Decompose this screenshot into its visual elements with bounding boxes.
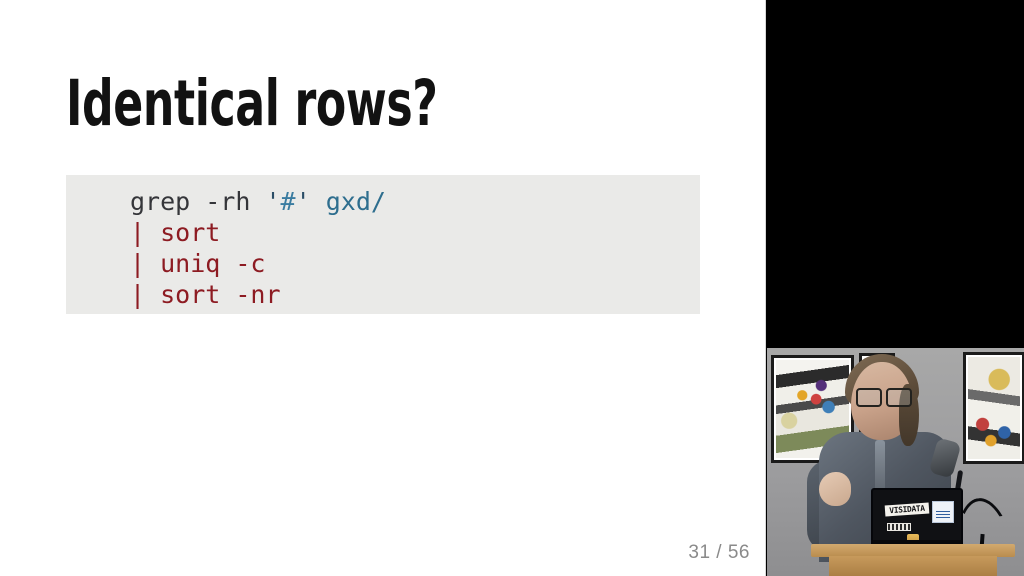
presentation-screenshot: Identical rows? grep -rh '#' gxd/ | sort… xyxy=(0,0,1024,576)
page-number: 31 / 56 xyxy=(688,542,750,564)
slide-canvas: Identical rows? grep -rh '#' gxd/ | sort… xyxy=(0,0,766,576)
speaker-video-panel: VISIDATA xyxy=(765,0,1024,576)
code-token-pipe-3: | xyxy=(130,280,145,309)
code-token-command-2: uniq -c xyxy=(145,249,265,278)
code-token-command: grep -rh xyxy=(130,187,265,216)
code-token-command-1: sort xyxy=(145,218,220,247)
blue-square-sticker xyxy=(932,501,954,523)
artwork-right-canvas xyxy=(968,357,1020,459)
code-token-quote-close: ' xyxy=(296,187,311,216)
code-token-pipe-1: | xyxy=(130,218,145,247)
code-token-space xyxy=(311,187,326,216)
glasses-icon xyxy=(856,388,912,403)
code-token-command-3: sort -nr xyxy=(145,280,280,309)
code-token-string: # xyxy=(281,187,296,216)
code-token-quote-open: ' xyxy=(265,187,280,216)
code-token-path: gxd/ xyxy=(326,187,386,216)
podium-body xyxy=(829,556,997,576)
visidata-sticker: VISIDATA xyxy=(885,502,930,516)
speaker-hand xyxy=(819,472,851,506)
code-token-pipe-2: | xyxy=(130,249,145,278)
video-letterbox xyxy=(766,0,1024,348)
laptop: VISIDATA xyxy=(871,488,963,548)
speaker-camera-feed: VISIDATA xyxy=(767,348,1024,576)
code-listing: grep -rh '#' gxd/ | sort | uniq -c | sor… xyxy=(130,186,386,310)
page-title: Identical rows? xyxy=(66,68,438,140)
code-block: grep -rh '#' gxd/ | sort | uniq -c | sor… xyxy=(66,175,700,314)
artwork-right xyxy=(963,352,1024,464)
barcode-sticker xyxy=(887,523,911,531)
